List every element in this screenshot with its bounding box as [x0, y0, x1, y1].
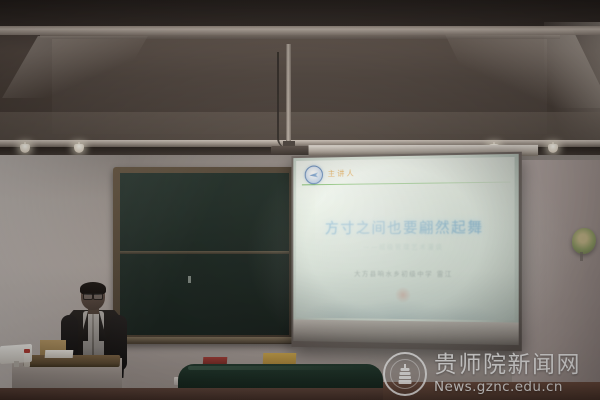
- chalk-tray: [108, 337, 298, 343]
- bottle-cap: [24, 349, 30, 353]
- slide-subtitle: ——班级管理艺术漫谈: [296, 241, 514, 251]
- blackboard: [113, 167, 295, 344]
- projection-screen-surface: 主讲人 方寸之间也要翩然起舞 ——班级管理艺术漫谈 大方县响水乡初级中学 雷江: [293, 154, 518, 345]
- track-light-icon: [18, 142, 32, 155]
- gznc-pagoda-logo-icon: [383, 352, 427, 396]
- photo-scene: 主讲人 方寸之间也要翩然起舞 ——班级管理艺术漫谈 大方县响水乡初级中学 雷江: [0, 0, 600, 400]
- screen-lower-margin: [293, 319, 518, 345]
- school-emblem-icon: [305, 165, 323, 184]
- eyeglasses-icon: [83, 293, 103, 298]
- water-bottle: [24, 352, 30, 367]
- monitor-stand: [14, 361, 19, 367]
- watermark-title-cn: 贵师院新闻网: [434, 354, 581, 377]
- ceiling-beam-inner: [40, 35, 560, 39]
- track-light-icon: [546, 142, 560, 155]
- pagoda-glyph: [399, 364, 412, 384]
- blackboard-surface: [120, 173, 289, 335]
- presentation-slide: 主讲人 方寸之间也要翩然起舞 ——班级管理艺术漫谈 大方县响水乡初级中学 雷江: [296, 157, 514, 321]
- ceiling-beam: [0, 26, 600, 35]
- projector-mount-pole: [286, 44, 291, 149]
- projection-screen: 主讲人 方寸之间也要翩然起舞 ——班级管理艺术漫谈 大方县响水乡初级中学 雷江: [291, 152, 521, 352]
- ceiling-upper-shadow: [0, 0, 600, 26]
- presenter-zipper: [92, 313, 94, 361]
- slide-header-text: 主讲人: [328, 168, 356, 179]
- track-light-icon: [72, 142, 86, 155]
- watermark-url: News.gznc.edu.cn: [434, 381, 581, 395]
- watermark-text: 贵师院新闻网 News.gznc.edu.cn: [434, 354, 581, 395]
- blackboard-sheen: [120, 173, 289, 335]
- desk-highlight: [188, 366, 368, 370]
- watermark: 贵师院新闻网 News.gznc.edu.cn: [383, 350, 597, 398]
- slide-mountain-graphic: [296, 271, 514, 321]
- slide-accent-rule: [302, 182, 511, 186]
- plant-hook: [580, 252, 583, 261]
- podium-papers: [45, 350, 74, 358]
- ceiling-soffit: [0, 112, 600, 142]
- slide-title: 方寸之间也要翩然起舞: [296, 216, 514, 238]
